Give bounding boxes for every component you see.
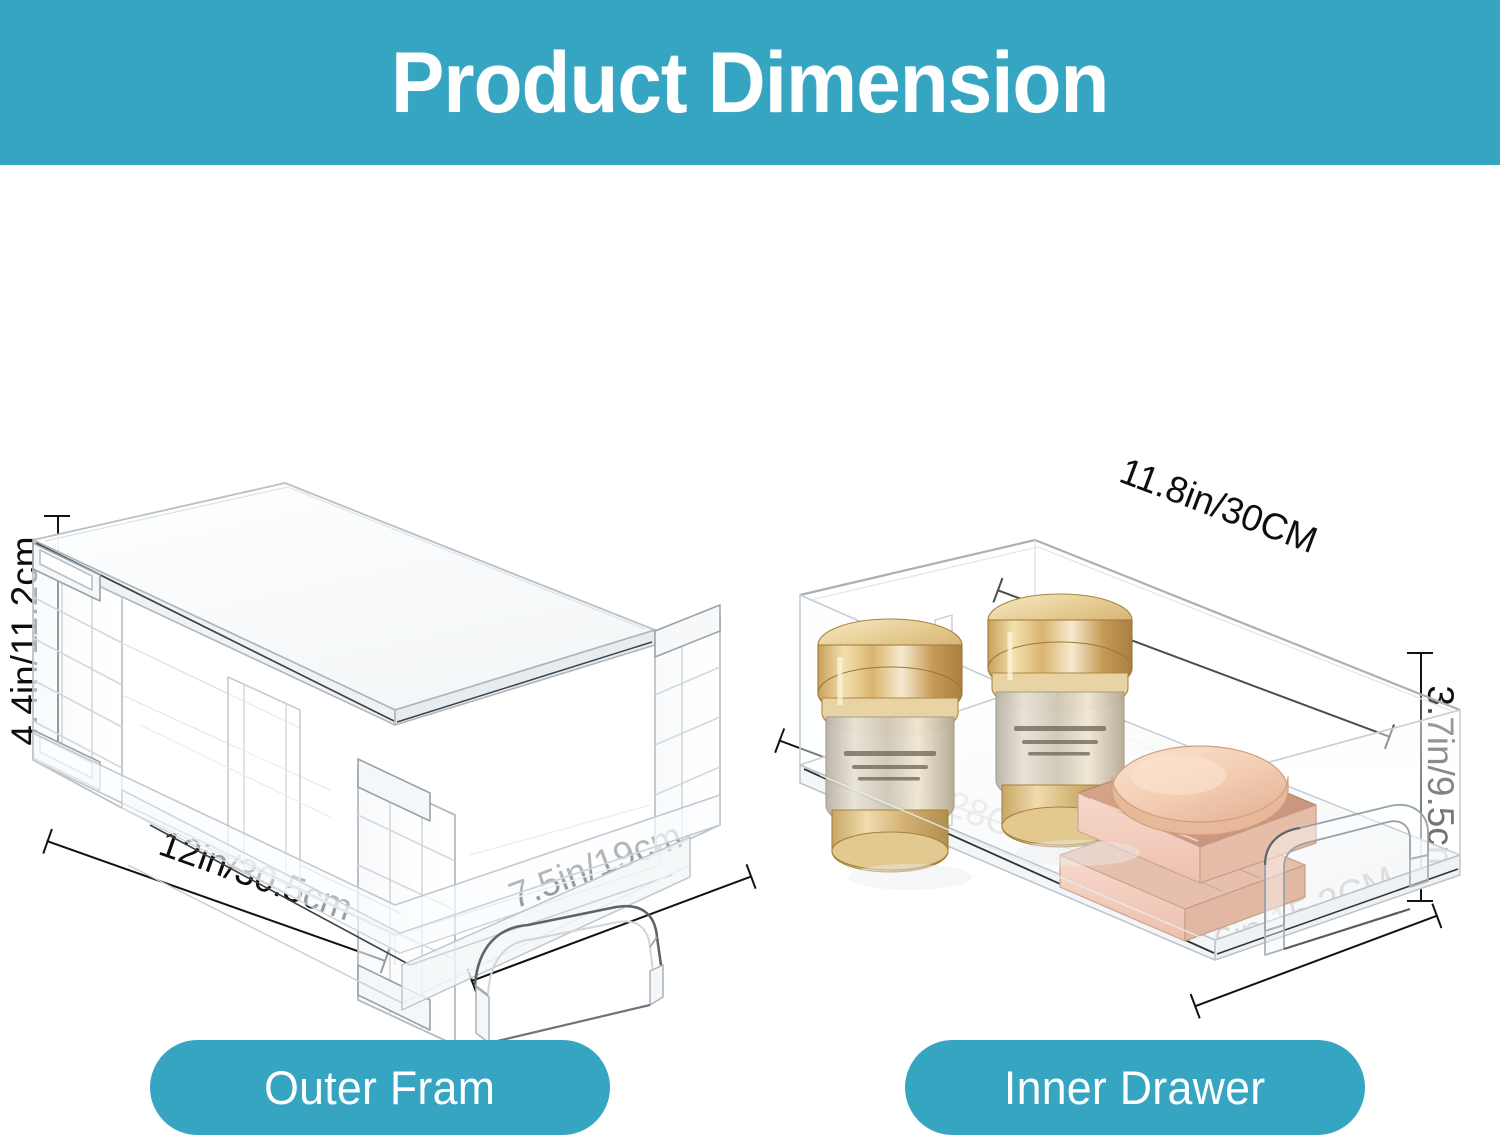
inner-drawer-panel: 11.8in/30CM 3.7in/9.5cm 11in/28CM 6in/15… — [760, 165, 1500, 1133]
header-banner: Product Dimension — [0, 0, 1500, 165]
inner-drawer-pill-label: Inner Drawer — [1004, 1060, 1265, 1115]
inner-drawer-illustration — [760, 165, 1500, 1133]
outer-frame-pill[interactable]: Outer Fram — [150, 1040, 610, 1135]
page-title: Product Dimension — [391, 40, 1108, 126]
outer-frame-pill-label: Outer Fram — [264, 1060, 495, 1115]
product-stage: 4.4in/11.2cm 12in/30.5cm 7.5in/19cm — [0, 165, 1500, 1133]
outer-frame-illustration — [0, 165, 780, 1133]
outer-frame-panel: 4.4in/11.2cm 12in/30.5cm 7.5in/19cm — [0, 165, 780, 1133]
inner-drawer-pill[interactable]: Inner Drawer — [905, 1040, 1365, 1135]
